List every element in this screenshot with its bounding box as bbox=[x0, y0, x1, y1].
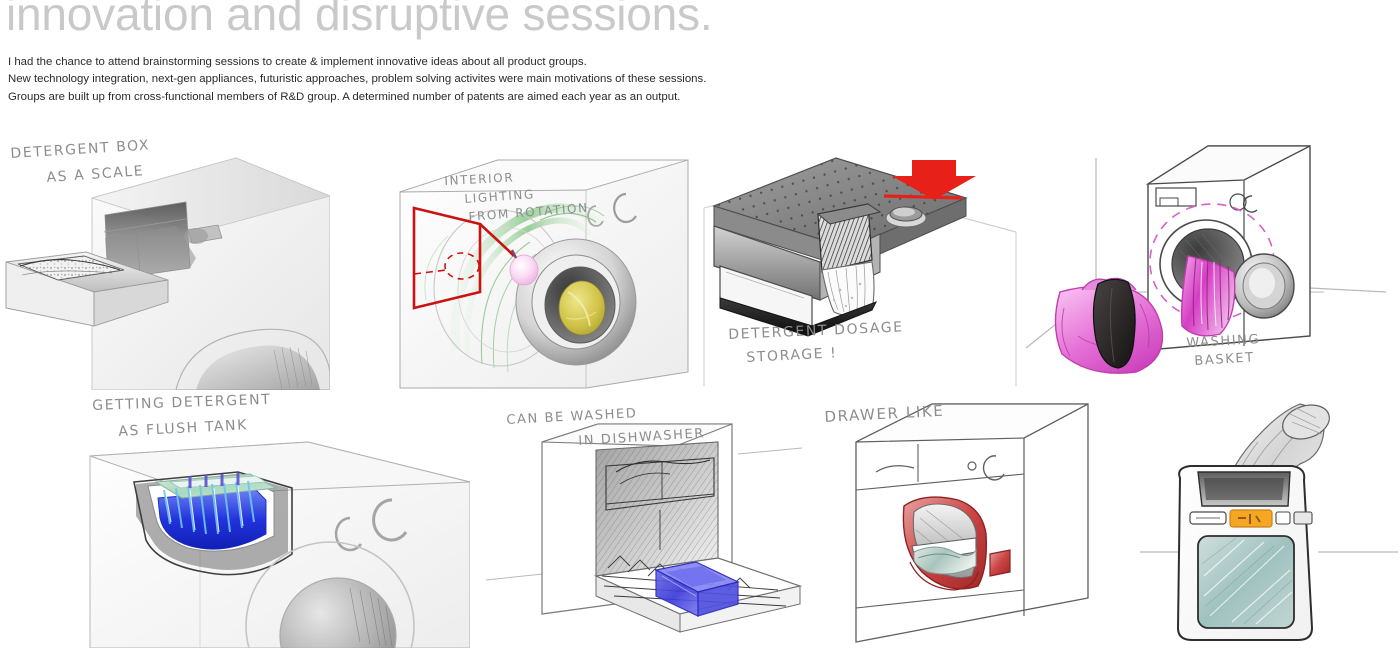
intro-line-3: Groups are built up from cross-functiona… bbox=[8, 89, 706, 106]
top-loader-drawing bbox=[1140, 400, 1400, 648]
sketch-interior-lighting: INTERIOR LIGHTING FROM ROTATION bbox=[390, 150, 700, 390]
page-title: innovation and disruptive sessions. bbox=[6, 0, 712, 40]
sketch-drawer-like: DRAWER LIKE bbox=[810, 400, 1150, 648]
sketch-detergent-box-scale: DETERGENT BOX AS A SCALE bbox=[0, 140, 330, 390]
intro-paragraph: I had the chance to attend brainstorming… bbox=[8, 54, 706, 106]
intro-line-2: New technology integration, next-gen app… bbox=[8, 71, 706, 88]
sketch-flush-tank: GETTING DETERGENT AS FLUSH TANK bbox=[60, 390, 470, 648]
interior-lighting-drawing bbox=[390, 150, 700, 390]
drawer-like-drawing bbox=[810, 400, 1150, 648]
sketch-dishwasher: CAN BE WASHED IN DISHWASHER bbox=[480, 400, 810, 648]
sketch-washing-basket: WASHING BASKET bbox=[1020, 140, 1390, 392]
sketch-top-loader bbox=[1140, 400, 1400, 648]
sketch-detergent-dosage-storage: DETERGENT DOSAGE STORAGE ! bbox=[700, 150, 1020, 390]
intro-line-1: I had the chance to attend brainstorming… bbox=[8, 54, 706, 71]
portfolio-page: innovation and disruptive sessions. I ha… bbox=[0, 0, 1400, 648]
